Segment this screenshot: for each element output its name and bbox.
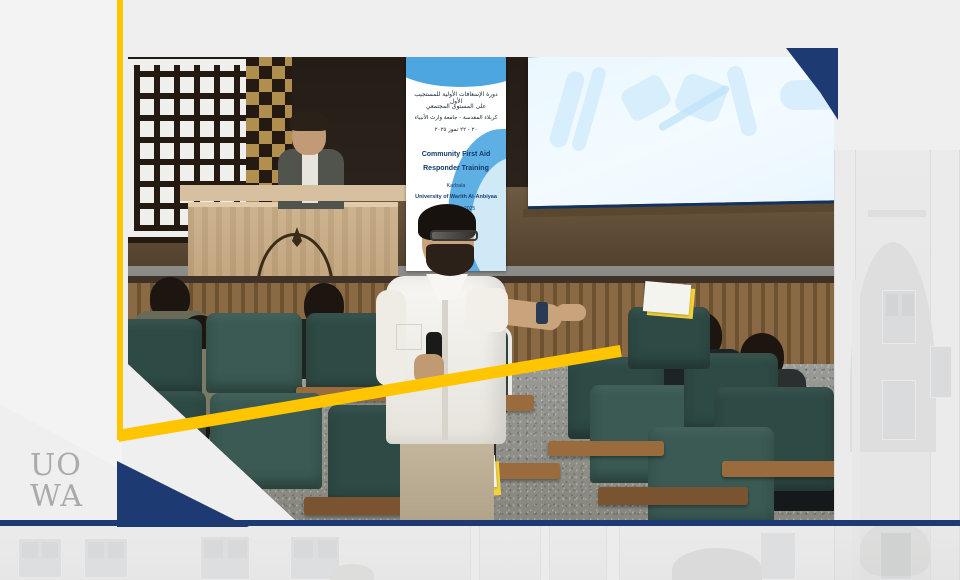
uowa-logo-line-1: UO — [30, 450, 110, 481]
navy-accent-triangle — [117, 461, 249, 527]
background-panel — [0, 0, 122, 470]
banner-city: Karbala — [410, 183, 502, 189]
uowa-logo-line-2: WA — [30, 481, 110, 512]
desk-rail — [722, 461, 834, 477]
desk-rail — [598, 487, 748, 505]
auditorium-seat — [206, 313, 302, 393]
banner-title-line-2: Responder Training — [410, 165, 502, 172]
poster-canvas: to worse outc وارث الأنبياء — [0, 0, 960, 580]
banner-title-line-1: Community First Aid — [410, 151, 502, 158]
uowa-logo: UO WA — [30, 450, 110, 512]
auditorium-seat — [128, 319, 202, 395]
projector-screen: to worse outc — [528, 57, 834, 209]
banner-arabic-line-3: كربلاء المقدسة - جامعة وارث الأنبياء — [410, 115, 502, 121]
banner-arabic-line-2: على المستوى المجتمعي — [410, 103, 502, 110]
yellow-accent-vertical-line — [117, 0, 123, 440]
campus-building-watermark-right — [834, 150, 960, 580]
banner-university: University of Warith Al-Anbiyaa — [410, 194, 502, 200]
event-photograph: to worse outc وارث الأنبياء — [128, 57, 834, 522]
campus-building-watermark-bottom — [0, 524, 960, 580]
eyeglasses — [430, 230, 478, 241]
desk-rail — [548, 441, 664, 456]
banner-arabic-line-4: ٢٠ - ٢٢ تموز ٢٠٢٥ — [410, 127, 502, 133]
handout-sheet — [643, 281, 691, 315]
navy-horizontal-rule — [0, 520, 960, 526]
